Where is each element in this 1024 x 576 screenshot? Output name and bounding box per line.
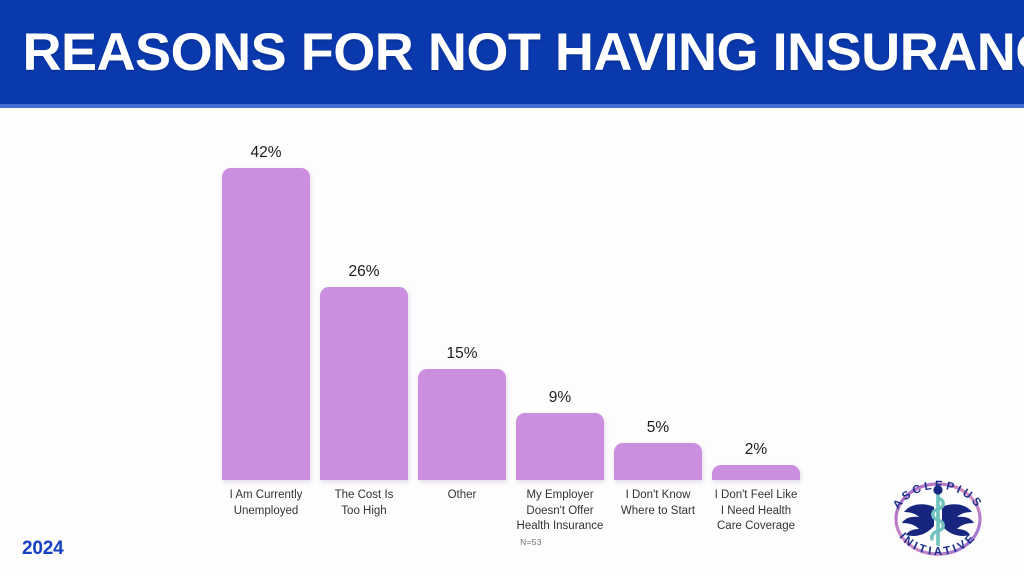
bar-value-label: 42% xyxy=(222,144,310,162)
bar-value-label: 5% xyxy=(614,419,702,437)
bar-value-label: 9% xyxy=(516,389,604,407)
bar-group[interactable]: 15%Other xyxy=(418,108,506,480)
asclepius-initiative-logo: ASCLEPIUS INITIATIVE xyxy=(877,462,999,572)
bar-category-label-line: I Don't Know xyxy=(626,489,691,501)
bar-category-label-line: My Employer xyxy=(526,489,593,501)
bar-category-label: I Am CurrentlyUnemployed xyxy=(219,488,313,519)
bar[interactable] xyxy=(516,413,604,480)
sample-size-note: N=53 xyxy=(476,537,586,547)
bar-category-label-line: Other xyxy=(448,489,477,501)
bar-category-label-line: Unemployed xyxy=(234,505,299,517)
bar-value-label: 2% xyxy=(712,441,800,459)
bar-category-label-line: Doesn't Offer xyxy=(526,505,593,517)
bar-group[interactable]: 5%I Don't KnowWhere to Start xyxy=(614,108,702,480)
logo-rod-of-asclepius xyxy=(932,485,944,546)
bar-group[interactable]: 2%I Don't Feel LikeI Need HealthCare Cov… xyxy=(712,108,800,480)
bar-category-label: I Don't Feel LikeI Need HealthCare Cover… xyxy=(709,488,803,535)
bar-category-label: I Don't KnowWhere to Start xyxy=(611,488,705,519)
bar-category-label-line: Too High xyxy=(341,505,386,517)
header-banner: REASONS FOR NOT HAVING INSURANCE xyxy=(0,0,1024,104)
bar-value-label: 26% xyxy=(320,263,408,281)
chart-area: 42%I Am CurrentlyUnemployed26%The Cost I… xyxy=(0,108,1024,576)
bar-category-label-line: I Don't Feel Like xyxy=(715,489,798,501)
bar[interactable] xyxy=(320,287,408,480)
page-title: REASONS FOR NOT HAVING INSURANCE xyxy=(0,26,1024,79)
bar-category-label-line: Where to Start xyxy=(621,505,695,517)
bar-category-label-line: I Am Currently xyxy=(230,489,303,501)
year-label: 2024 xyxy=(22,538,63,560)
bar-category-label: Other xyxy=(415,488,509,504)
bar[interactable] xyxy=(222,168,310,480)
bar-group[interactable]: 9%My EmployerDoesn't OfferHealth Insuran… xyxy=(516,108,604,480)
bar[interactable] xyxy=(614,443,702,480)
bar-value-label: 15% xyxy=(418,345,506,363)
bar[interactable] xyxy=(418,369,506,480)
bar-category-label-line: I Need Health xyxy=(721,505,791,517)
bar-group[interactable]: 42%I Am CurrentlyUnemployed xyxy=(222,108,310,480)
bar[interactable] xyxy=(712,465,800,480)
bar-category-label-line: Health Insurance xyxy=(517,520,604,532)
bar-category-label-line: The Cost Is xyxy=(335,489,394,501)
bar-group[interactable]: 26%The Cost IsToo High xyxy=(320,108,408,480)
bar-category-label: My EmployerDoesn't OfferHealth Insurance xyxy=(513,488,607,535)
bar-category-label: The Cost IsToo High xyxy=(317,488,411,519)
bar-chart-plot: 42%I Am CurrentlyUnemployed26%The Cost I… xyxy=(222,108,800,480)
bar-category-label-line: Care Coverage xyxy=(717,520,795,532)
